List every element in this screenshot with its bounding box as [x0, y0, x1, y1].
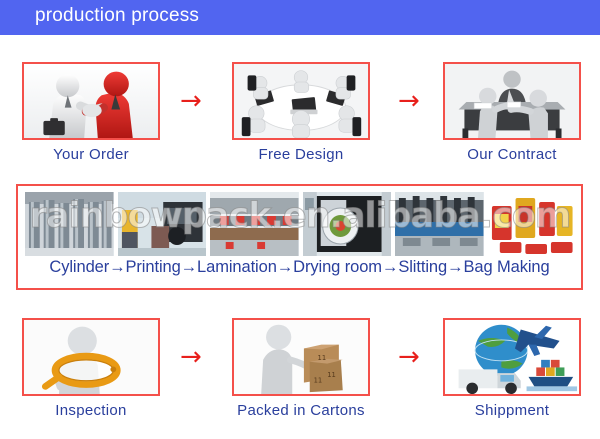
carton-boxes-image: 111111: [232, 318, 370, 396]
slitting-machine-photo: [395, 192, 484, 256]
svg-text:11: 11: [314, 377, 323, 385]
drying-drum-photo: [303, 192, 392, 256]
globe-logistics-image: [443, 318, 581, 396]
header-banner: production process: [0, 0, 600, 35]
contract-desk-image: [443, 62, 581, 140]
production-stages-caption: Cylinder→Printing→Lamination→Drying room…: [18, 258, 581, 277]
step-label: Your Order: [22, 146, 160, 163]
step-shippment[interactable]: Shippment: [443, 318, 581, 419]
page-title: production process: [35, 5, 199, 27]
arrow-right-icon: →: [180, 88, 202, 114]
design-meeting-image: [232, 62, 370, 140]
arrow-right-icon: →: [398, 88, 420, 114]
gravure-cylinders-photo: [25, 192, 114, 256]
printing-machine-photo: [118, 192, 207, 256]
step-our-contract[interactable]: Our Contract: [443, 62, 581, 163]
lamination-machine-photo: [210, 192, 299, 256]
arrow-right-icon: →: [398, 344, 420, 370]
production-stages-panel: Cylinder→Printing→Lamination→Drying room…: [16, 184, 583, 290]
step-inspection[interactable]: Inspection: [22, 318, 160, 419]
handshake-image: [22, 62, 160, 140]
magnifier-inspection-image: [22, 318, 160, 396]
filmstrip-images: [25, 192, 576, 256]
step-label: Shippment: [443, 402, 581, 419]
finished-bags-photo: [488, 192, 577, 256]
svg-text:11: 11: [327, 371, 336, 379]
step-label: Free Design: [232, 146, 370, 163]
step-packed-in-cartons[interactable]: 111111 Packed in Cartons: [232, 318, 370, 419]
svg-text:11: 11: [318, 354, 327, 362]
arrow-right-icon: →: [180, 344, 202, 370]
step-free-design[interactable]: Free Design: [232, 62, 370, 163]
step-label: Inspection: [22, 402, 160, 419]
step-label: Our Contract: [443, 146, 581, 163]
step-your-order[interactable]: Your Order: [22, 62, 160, 163]
step-label: Packed in Cartons: [232, 402, 370, 419]
